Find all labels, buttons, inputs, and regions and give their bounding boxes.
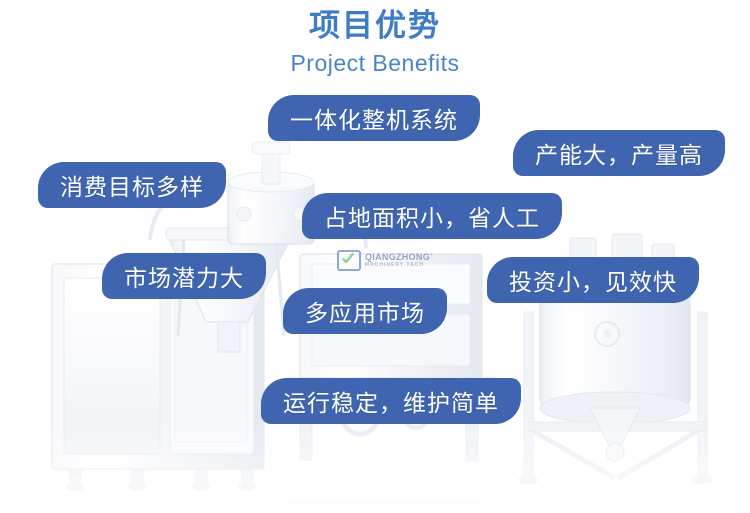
- brand-logo: QIANGZHONG® MACHINERY TECH: [337, 250, 433, 271]
- badge-integrated-system: 一体化整机系统: [268, 95, 480, 141]
- badge-stable-operation: 运行稳定，维护简单: [261, 378, 521, 424]
- brand-name: QIANGZHONG: [365, 252, 430, 262]
- project-benefits-infographic: QIANGZHONG® MACHINERY TECH 项目优势 Project …: [0, 0, 750, 513]
- brand-tagline: MACHINERY TECH: [365, 263, 433, 268]
- page-title-cn: 项目优势: [0, 6, 750, 46]
- badge-small-footprint: 占地面积小，省人工: [302, 193, 562, 239]
- badge-low-investment: 投资小，见效快: [487, 257, 699, 303]
- checkmark-square-icon: [337, 250, 361, 271]
- page-title-en: Project Benefits: [0, 48, 750, 78]
- badge-high-capacity: 产能大，产量高: [513, 130, 725, 176]
- badge-diverse-targets: 消费目标多样: [38, 162, 226, 208]
- page-heading: 项目优势 Project Benefits: [0, 6, 750, 78]
- badge-market-potential: 市场潜力大: [102, 253, 266, 299]
- registered-mark: ®: [430, 252, 433, 257]
- badge-multi-application: 多应用市场: [283, 288, 447, 334]
